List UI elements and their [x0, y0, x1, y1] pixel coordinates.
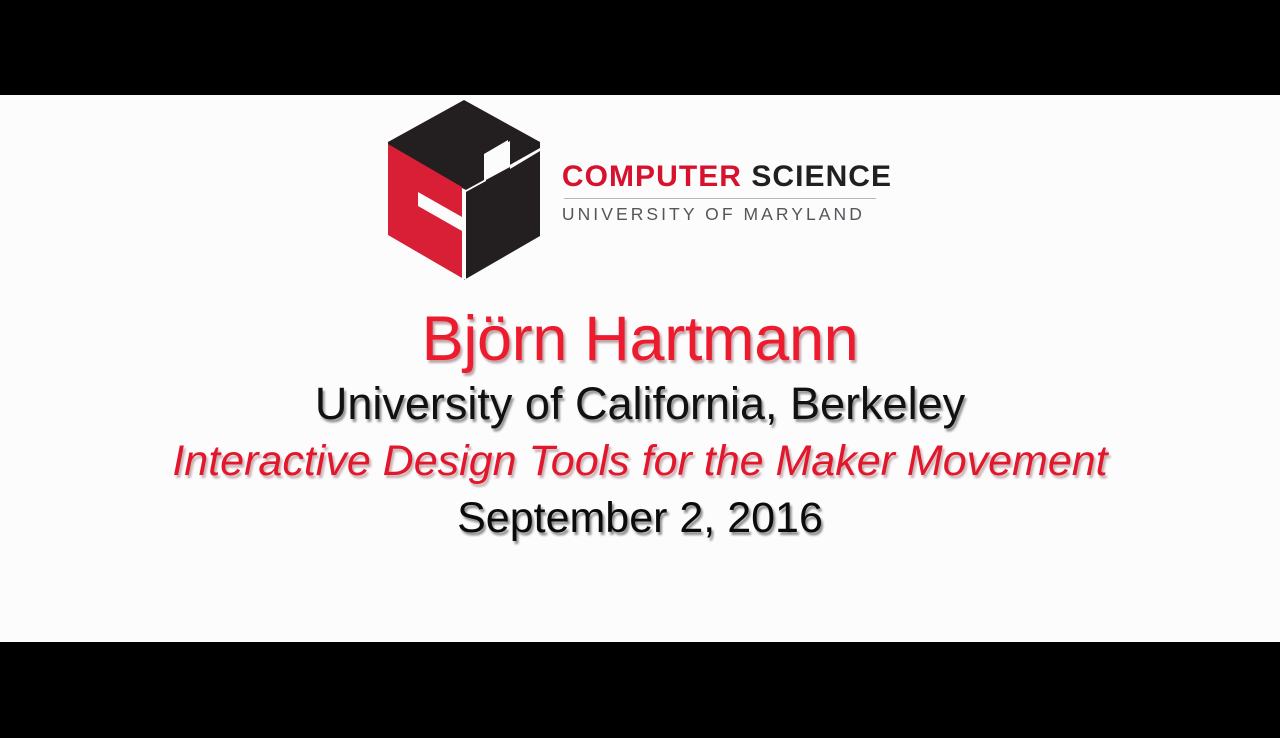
wordmark-divider-rule: [564, 198, 876, 199]
letterbox-bar-bottom: [0, 642, 1280, 738]
speaker-name: Björn Hartmann: [0, 305, 1280, 373]
umd-cs-wordmark: COMPUTER SCIENCE UNIVERSITY OF MARYLAND: [562, 156, 892, 225]
video-frame: COMPUTER SCIENCE UNIVERSITY OF MARYLAND …: [0, 0, 1280, 738]
slide-canvas: COMPUTER SCIENCE UNIVERSITY OF MARYLAND …: [0, 95, 1280, 642]
wordmark-space: [742, 160, 751, 193]
wordmark-university-text: UNIVERSITY OF MARYLAND: [562, 204, 892, 225]
wordmark-computer-text: COMPUTER: [562, 160, 742, 193]
cube-center-seam: [462, 188, 466, 280]
talk-title: Interactive Design Tools for the Maker M…: [0, 436, 1280, 487]
letterbox-bar-top: [0, 0, 1280, 95]
speaker-affiliation: University of California, Berkeley: [0, 377, 1280, 430]
umd-cs-logo-lockup: COMPUTER SCIENCE UNIVERSITY OF MARYLAND: [0, 97, 1280, 283]
wordmark-science-text: SCIENCE: [751, 160, 892, 193]
wordmark-primary-line: COMPUTER SCIENCE: [562, 162, 892, 192]
title-text-block: Björn Hartmann University of California,…: [0, 305, 1280, 544]
talk-date: September 2, 2016: [0, 493, 1280, 544]
umd-cs-cube-logo-icon: [388, 100, 540, 280]
